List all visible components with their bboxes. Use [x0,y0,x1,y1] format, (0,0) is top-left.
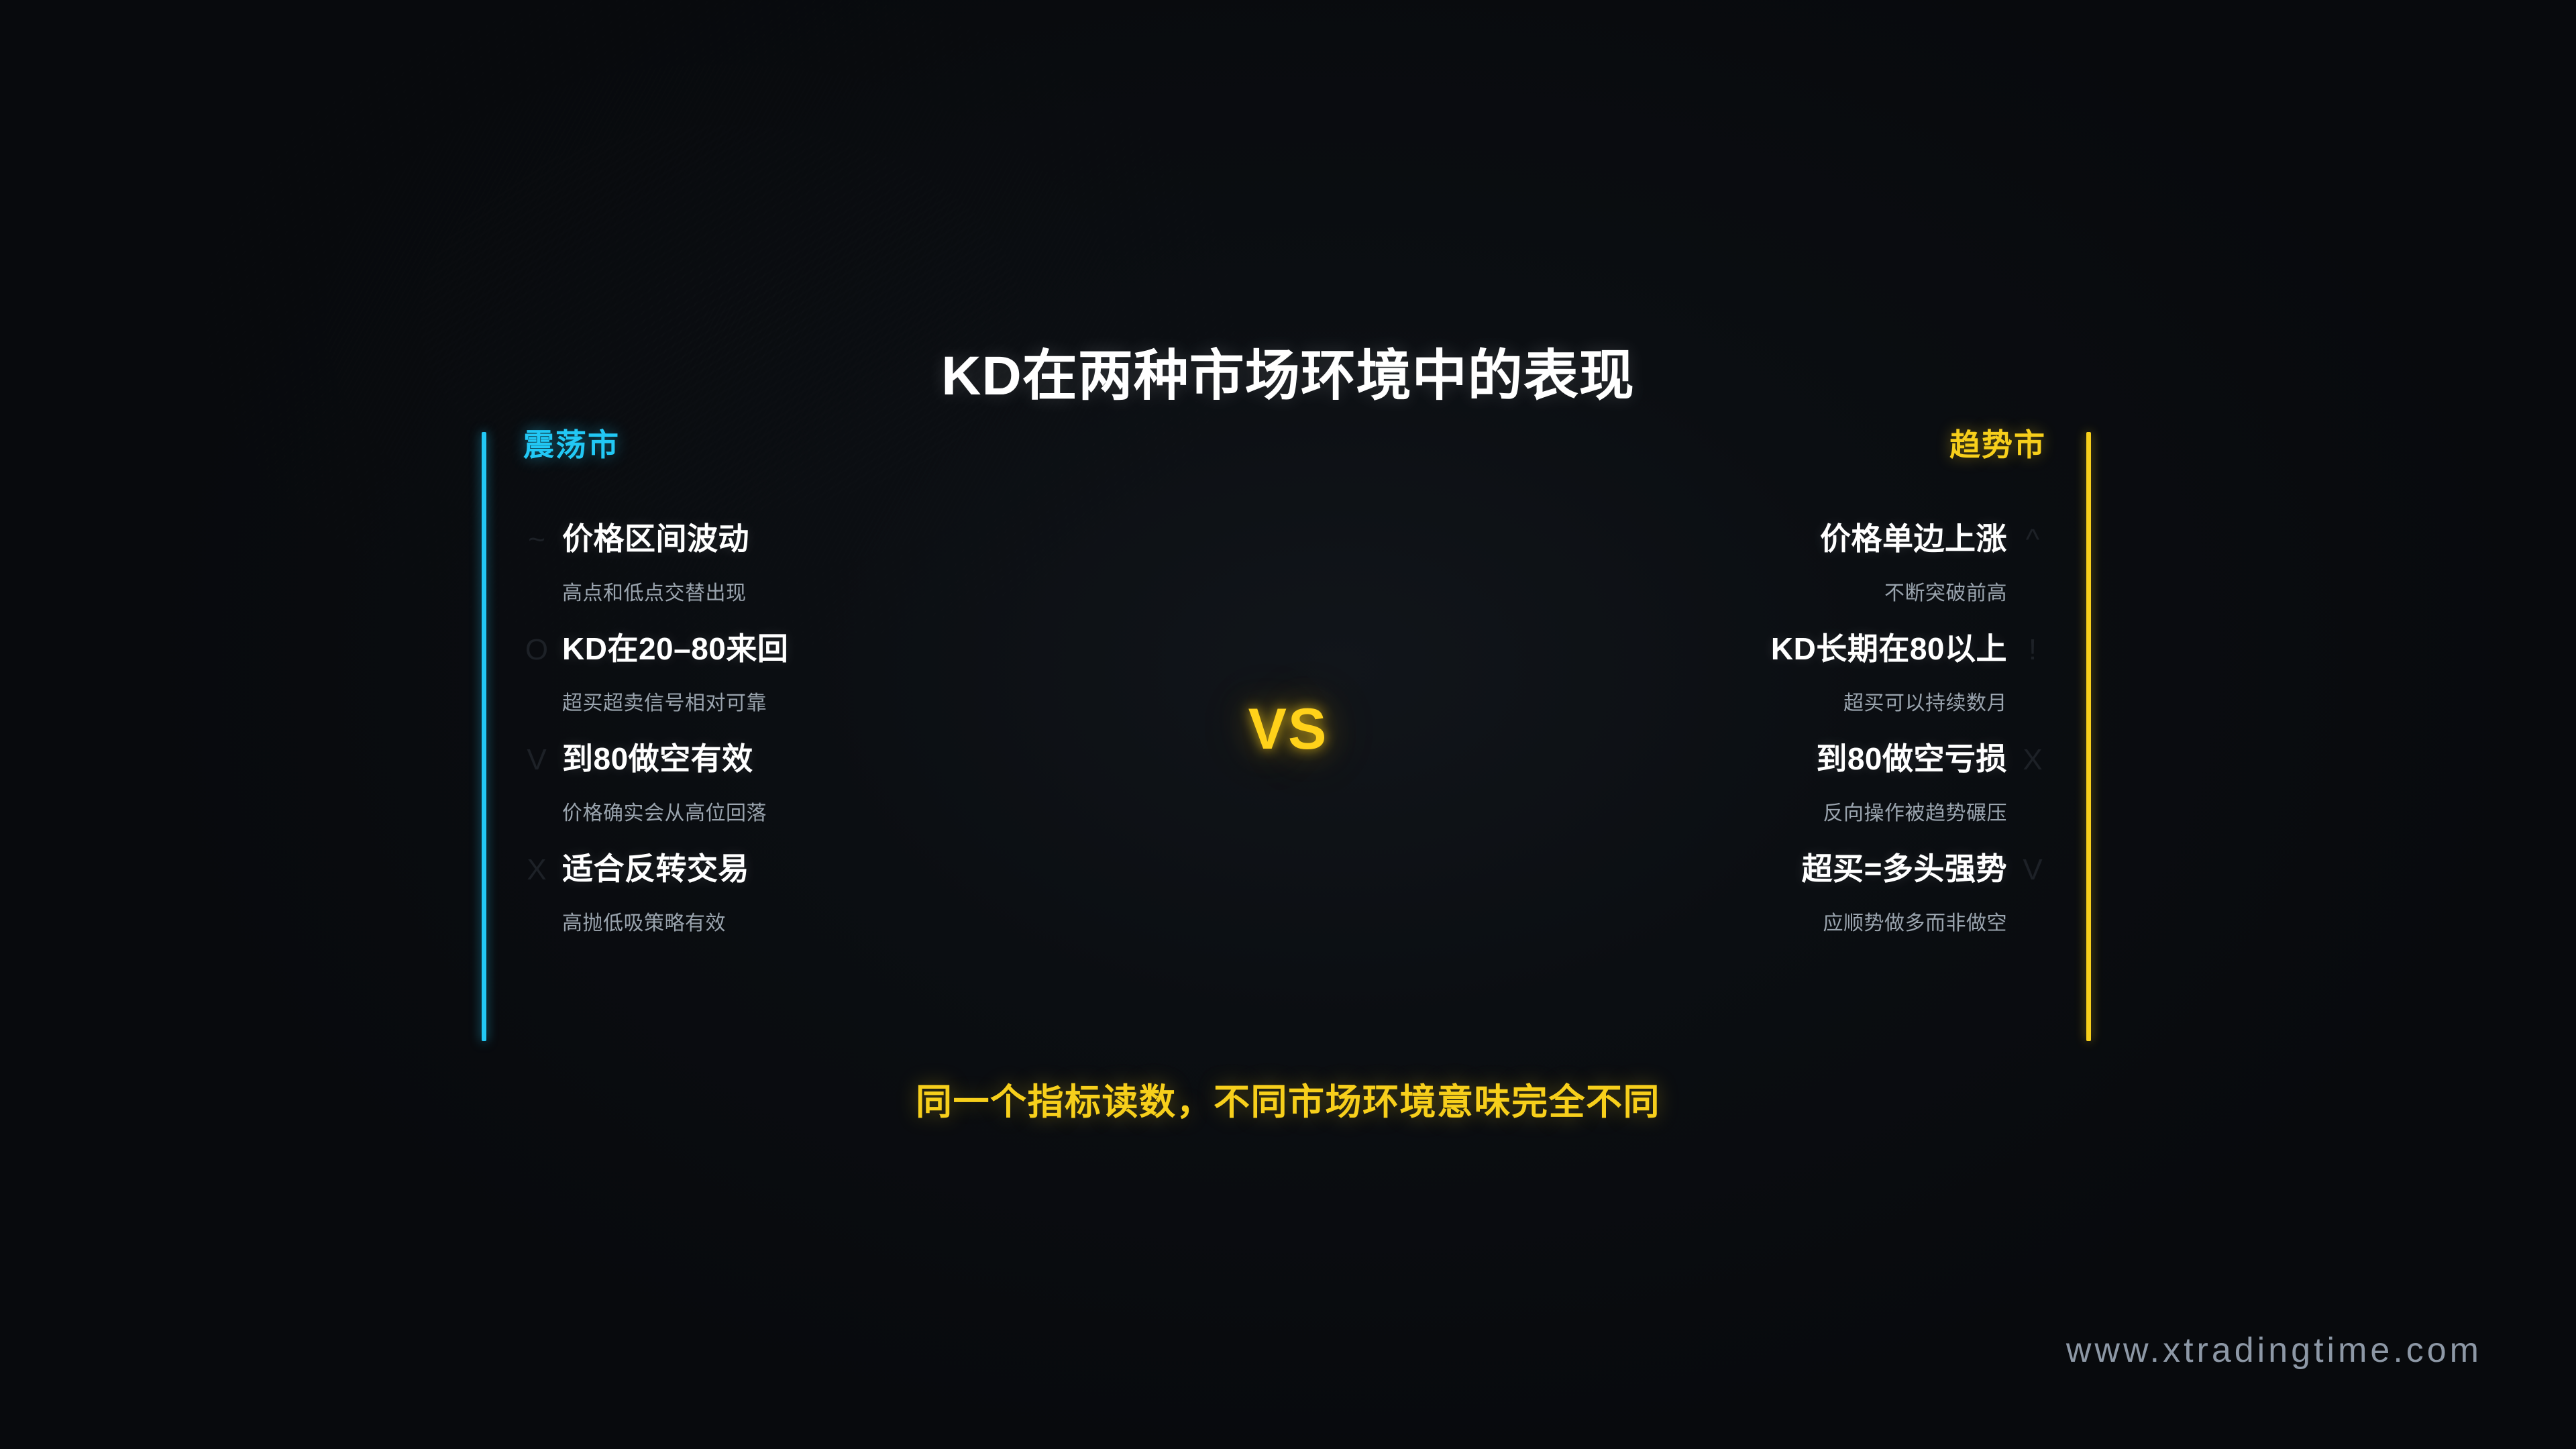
conclusion-text: 同一个指标读数，不同市场环境意味完全不同 [0,1072,2576,1125]
item-title: KD长期在80以上 [1771,633,2007,664]
item-subtitle: 高抛低吸策略有效 [523,914,1221,934]
page-title: KD在两种市场环境中的表现 [0,347,2576,407]
item-subtitle: 不断突破前高 [1348,584,2046,604]
tilde-marker-icon: ~ [523,525,550,555]
item-title: 适合反转交易 [562,853,749,884]
list-item: ~ 价格区间波动 高点和低点交替出现 [523,523,1221,633]
exclamation-marker-icon: ! [2019,635,2046,665]
list-item: X 适合反转交易 高抛低吸策略有效 [523,853,1221,963]
watermark-url: www.xtradingtime.com [2066,1330,2482,1371]
item-subtitle: 高点和低点交替出现 [523,584,1221,604]
check-marker-icon: V [2019,855,2046,885]
item-title: 价格区间波动 [562,523,749,554]
item-subtitle: 价格确实会从高位回落 [523,804,1221,824]
column-heading-trending: 趋势市 [1348,429,2046,468]
list-item: 超买=多头强势 V 应顺势做多而非做空 [1348,853,2046,963]
column-ranging-market: 震荡市 ~ 价格区间波动 高点和低点交替出现 O KD在20–80来回 超买超卖… [523,429,1221,468]
column-trending-market: 趋势市 价格单边上涨 ^ 不断突破前高 KD长期在80以上 ! 超买可以持续数月 [1348,429,2046,468]
item-subtitle: 反向操作被趋势碾压 [1348,804,2046,824]
item-title: KD在20–80来回 [562,633,788,664]
column-heading-ranging: 震荡市 [523,429,1221,468]
list-item: 价格单边上涨 ^ 不断突破前高 [1348,523,2046,633]
item-title: 价格单边上涨 [1820,523,2007,554]
cross-marker-icon: X [523,855,550,885]
item-title: 超买=多头强势 [1802,853,2007,884]
item-subtitle: 应顺势做多而非做空 [1348,914,2046,934]
caret-up-marker-icon: ^ [2019,525,2046,555]
circle-marker-icon: O [523,635,550,665]
slide-canvas: KD在两种市场环境中的表现 震荡市 ~ 价格区间波动 高点和低点交替出现 O K… [0,0,2576,1449]
vs-badge: VS [0,696,2576,763]
